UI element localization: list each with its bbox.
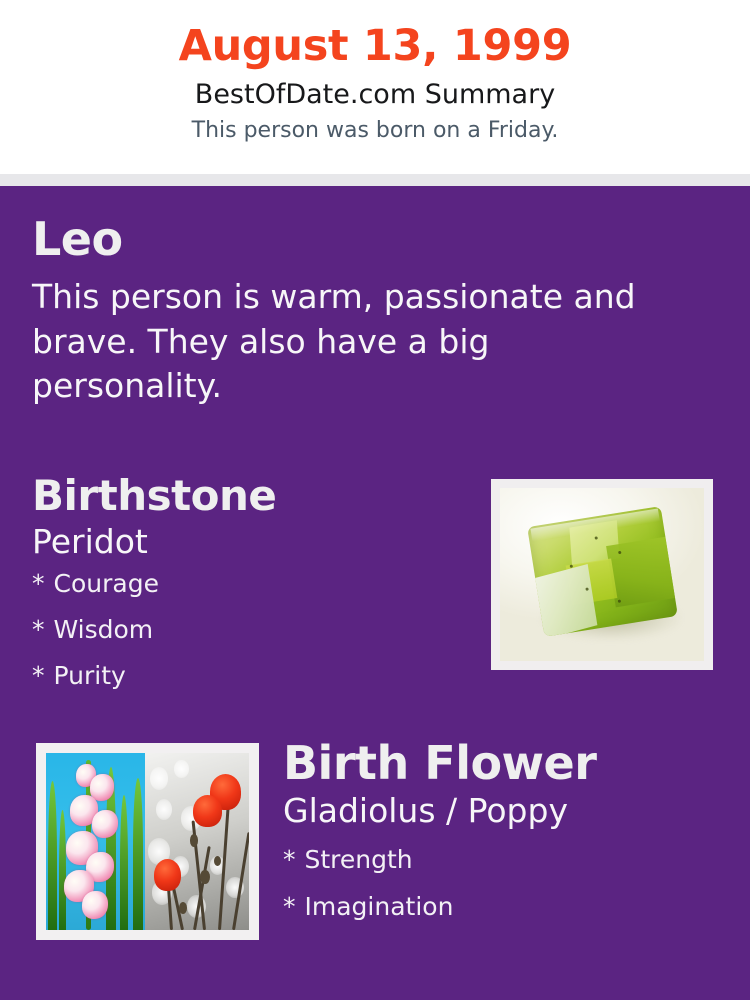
bokeh-light [156,799,173,820]
poppy-bloom [154,859,181,891]
gem-inclusion [585,587,588,590]
birthstone-trait-label: Courage [54,569,159,598]
birthflower-name: Gladiolus / Poppy [283,787,733,831]
bullet-star-icon: * [32,571,54,596]
peridot-gemstone-image [500,488,704,661]
bullet-star-icon: * [32,617,54,642]
poppy-photo-half [145,753,249,930]
birthstone-section: Birthstone Peridot *Courage *Wisdom *Pur… [32,474,472,709]
card-header: August 13, 1999 BestOfDate.com Summary T… [0,0,750,174]
birth-day-note: This person was born on a Friday. [0,112,750,144]
birthflower-section: Birth Flower Gladiolus / Poppy *Strength… [283,739,733,941]
header-divider [0,174,750,186]
birthflower-trait-list: *Strength *Imagination [283,831,733,941]
birthflower-title: Birth Flower [283,739,733,787]
list-item: *Strength [283,847,733,894]
birthflower-trait-label: Imagination [305,892,454,921]
zodiac-description: This person is warm, passionate and brav… [32,263,682,408]
birthstone-trait-list: *Courage *Wisdom *Purity [32,562,472,709]
zodiac-sign-title: Leo [32,215,692,263]
bullet-star-icon: * [283,894,305,919]
gem-inclusion [618,550,621,553]
birthflower-trait-label: Strength [305,845,413,874]
gladiolus-bloom [92,810,118,838]
list-item: *Imagination [283,894,733,941]
page-title-date: August 13, 1999 [0,0,750,71]
list-item: *Wisdom [32,617,472,663]
gem-crystal [527,506,677,636]
poppy-bloom [193,795,222,827]
leaf-blade [48,781,57,930]
gladiolus-photo-half [46,753,145,930]
leaf-blade [120,795,128,930]
bullet-star-icon: * [283,847,305,872]
summary-card: August 13, 1999 BestOfDate.com Summary T… [0,0,750,1000]
site-name-subtitle: BestOfDate.com Summary [0,71,750,111]
birthstone-name: Peridot [32,518,472,562]
bokeh-light [150,767,169,790]
poppy-bud [179,902,187,914]
birthflower-image-frame [36,743,259,940]
birthstone-trait-label: Purity [54,661,126,690]
list-item: *Purity [32,663,472,709]
birthstone-title: Birthstone [32,474,472,518]
list-item: *Courage [32,571,472,617]
gladiolus-and-poppy-image [46,753,249,930]
zodiac-section: Leo This person is warm, passionate and … [32,215,692,408]
leaf-blade [59,810,66,930]
poppy-bud [190,834,198,846]
birthstone-image-frame [491,479,713,670]
bokeh-light [174,760,188,778]
gem-inclusion [617,599,620,602]
bullet-star-icon: * [32,663,54,688]
content-panel: Leo This person is warm, passionate and … [0,186,750,1000]
gem-inclusion [594,536,597,539]
poppy-bud [200,870,209,884]
gladiolus-bloom [82,891,108,919]
birthstone-trait-label: Wisdom [54,615,154,644]
leaf-blade [133,778,144,930]
